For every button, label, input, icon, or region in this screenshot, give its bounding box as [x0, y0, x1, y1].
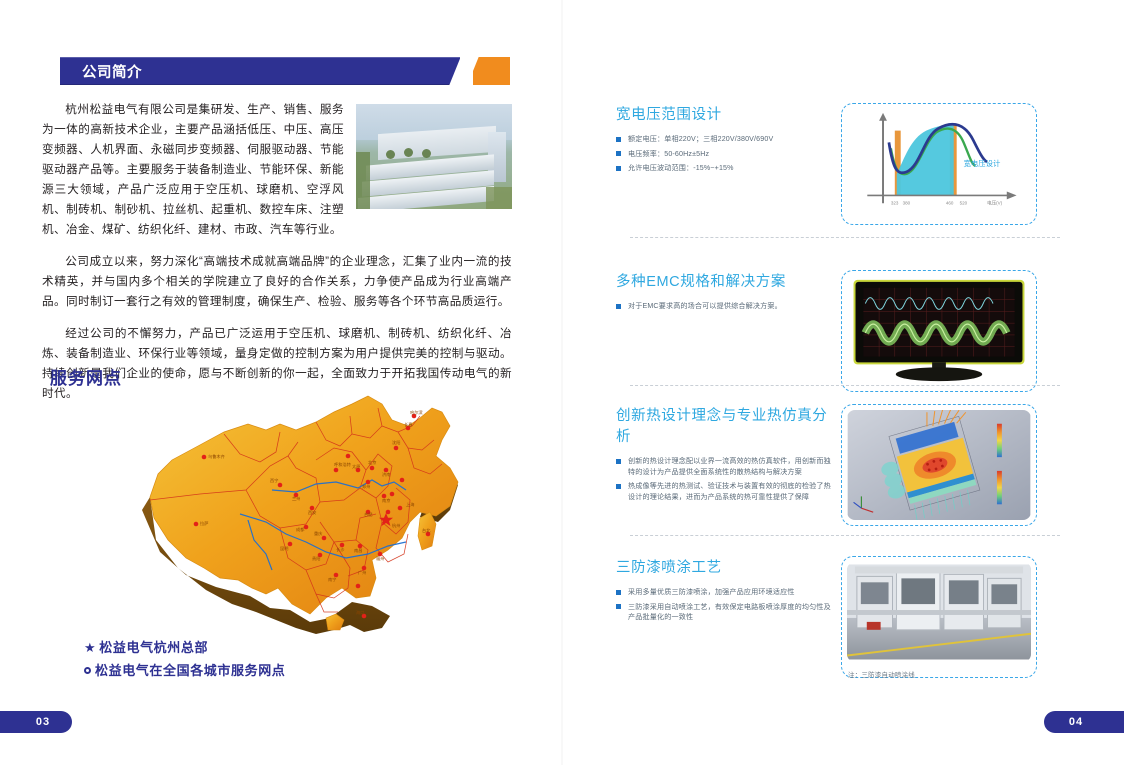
bullet: 额定电压：单相220V；三相220V/380V/690V: [616, 134, 833, 145]
bullet: 允许电压波动范围：-15%~+15%: [616, 163, 833, 174]
thermal-simulation-image: [847, 410, 1031, 520]
thermal-colorbar-2: [997, 471, 1002, 504]
legend-item-branches: 松益电气在全国各城市服务网点: [84, 659, 285, 682]
legend-hq-label: 松益电气杭州总部: [99, 636, 208, 659]
svg-text:太原: 太原: [352, 463, 360, 470]
feature-1-bullets: 额定电压：单相220V；三相220V/380V/690V 电压频率：50-60H…: [616, 134, 833, 174]
page-number-left-text: 03: [22, 716, 50, 728]
legend-item-hq: ★ 松益电气杭州总部: [84, 636, 285, 659]
svg-text:520: 520: [960, 200, 968, 205]
feature-1-text: 宽电压范围设计 额定电压：单相220V；三相220V/380V/690V 电压频…: [616, 103, 841, 225]
thermal-sim-svg: [847, 410, 1031, 520]
coating-line-photo: [847, 562, 1031, 662]
page-number-left: 03: [0, 711, 72, 733]
svg-text:广州: 广州: [358, 569, 366, 576]
bullet: 采用多量优质三防漆喷涂，加强产品应用环境适应性: [616, 587, 833, 598]
intro-paragraph-2: 公司成立以来，努力深化“高端技术成就高端品牌”的企业理念，汇集了业内一流的技术精…: [42, 252, 512, 312]
svg-text:合肥: 合肥: [364, 511, 373, 518]
svg-text:上海: 上海: [406, 501, 415, 508]
svg-text:杭州: 杭州: [392, 522, 400, 529]
factory-photo: [356, 104, 512, 209]
svg-text:323: 323: [891, 200, 899, 205]
feature-2-title: 多种EMC规格和解决方案: [616, 270, 833, 291]
feature-4-text: 三防漆喷涂工艺 采用多量优质三防漆喷涂，加强产品应用环境适应性 三防漆采用自动喷…: [616, 556, 841, 678]
bullet: 电压频率：50-60Hz±5Hz: [616, 149, 833, 160]
photo-greenery-right: [486, 187, 512, 209]
circle-dot-icon: [84, 667, 91, 674]
svg-text:海口: 海口: [356, 609, 364, 616]
feature-1-image-frame: 宽电压设计 323 380 460 520 电压(V): [841, 103, 1037, 225]
feature-divider-1: [630, 237, 1060, 239]
left-page: 公司简介 杭州松益电气有限公司是集研发、生产、销售、服务为一体的高新技术企业，主…: [0, 0, 562, 765]
oscilloscope-svg: [847, 276, 1031, 386]
oscilloscope-image: [847, 276, 1031, 386]
feature-4-caption: 注：三防漆自动喷涂线: [848, 669, 915, 679]
svg-text:福州: 福州: [376, 555, 384, 562]
svg-text:南京: 南京: [382, 497, 390, 504]
svg-text:呼和浩特: 呼和浩特: [334, 461, 351, 468]
svg-text:济南: 济南: [382, 471, 390, 478]
star-icon: ★: [84, 636, 96, 659]
left-header-bar: 公司简介: [60, 57, 460, 85]
feature-block-emc: 多种EMC规格和解决方案 对于EMC要求高的场合可以提供综合解决方案。: [616, 270, 1068, 392]
svg-text:460: 460: [946, 200, 954, 205]
tv-base: [896, 367, 982, 381]
svg-text:长春: 长春: [404, 421, 413, 428]
svg-text:南昌: 南昌: [354, 547, 362, 554]
page-number-right: 04: [1044, 711, 1124, 733]
svg-text:380: 380: [903, 200, 911, 205]
feature-2-text: 多种EMC规格和解决方案 对于EMC要求高的场合可以提供综合解决方案。: [616, 270, 841, 392]
svg-text:北京: 北京: [368, 459, 376, 466]
left-header-title: 公司简介: [82, 61, 142, 82]
wide-voltage-chart-svg: 宽电压设计 323 380 460 520 电压(V): [847, 109, 1031, 219]
feature-block-coating: 三防漆喷涂工艺 采用多量优质三防漆喷涂，加强产品应用环境适应性 三防漆采用自动喷…: [616, 556, 1068, 678]
left-header-orange-block: [473, 57, 510, 85]
feature-divider-3: [630, 535, 1060, 537]
svg-text:乌鲁木齐: 乌鲁木齐: [208, 453, 226, 460]
chart-x-arrow: [1007, 192, 1017, 200]
photo-greenery-left: [356, 152, 370, 209]
svg-text:沈阳: 沈阳: [392, 439, 400, 446]
feature-2-image-frame: [841, 270, 1037, 392]
feature-3-image-frame: [841, 404, 1037, 526]
feature-block-thermal: 创新热设计理念与专业热仿真分析 创新的热设计理念配以业界一流高效的热仿真软件，用…: [616, 404, 1068, 526]
feature-3-bullets: 创新的热设计理念配以业界一流高效的热仿真软件，用创新而独特的设计为产品提供全面系…: [616, 456, 833, 502]
thermal-colorbar-1: [997, 424, 1002, 457]
legend-branch-label: 松益电气在全国各城市服务网点: [95, 659, 285, 682]
chart-y-arrow: [879, 113, 887, 121]
left-section-header: 公司简介: [60, 57, 510, 85]
feature-1-title: 宽电压范围设计: [616, 103, 833, 124]
svg-text:台北: 台北: [422, 527, 431, 534]
photo-tree: [386, 150, 395, 159]
bullet: 三防漆采用自动喷涂工艺，有效保定电路板喷涂厚度的均匀性及产品批量化的一致性: [616, 602, 833, 623]
svg-text:电压(V): 电压(V): [987, 199, 1002, 206]
svg-text:郑州: 郑州: [362, 483, 370, 490]
svg-text:拉萨: 拉萨: [200, 520, 208, 527]
photo-tree: [404, 148, 413, 157]
chart-fill-area: [897, 125, 954, 195]
feature-4-image-frame: 注：三防漆自动喷涂线: [841, 556, 1037, 678]
svg-text:兰州: 兰州: [292, 495, 300, 501]
bullet: 热成像等先进的热测试、验证技术与装置有效的彻底的检验了热设计的理论结果，进而为产…: [616, 481, 833, 502]
wide-voltage-chart-image: 宽电压设计 323 380 460 520 电压(V): [847, 109, 1031, 219]
feature-3-title: 创新热设计理念与专业热仿真分析: [616, 404, 833, 446]
page-number-right-text: 04: [1069, 716, 1099, 728]
svg-text:西宁: 西宁: [270, 477, 278, 484]
svg-text:成都: 成都: [296, 526, 305, 533]
map-legend: ★ 松益电气杭州总部 松益电气在全国各城市服务网点: [84, 636, 285, 682]
svg-text:南宁: 南宁: [328, 576, 336, 582]
feature-block-wide-voltage: 宽电压范围设计 额定电压：单相220V；三相220V/380V/690V 电压频…: [616, 103, 1068, 225]
svg-text:贵阳: 贵阳: [312, 555, 320, 562]
feature-2-bullets: 对于EMC要求高的场合可以提供综合解决方案。: [616, 301, 833, 312]
photo-tree: [422, 149, 431, 158]
bullet: 对于EMC要求高的场合可以提供综合解决方案。: [616, 301, 833, 312]
feature-4-title: 三防漆喷涂工艺: [616, 556, 833, 577]
bullet: 创新的热设计理念配以业界一流高效的热仿真软件，用创新而独特的设计为产品提供全面系…: [616, 456, 833, 477]
svg-text:重庆: 重庆: [314, 530, 323, 537]
chart-annotation-label: 宽电压设计: [964, 159, 1001, 168]
svg-text:长沙: 长沙: [336, 546, 345, 553]
coating-line-svg: [847, 562, 1031, 662]
feature-divider-2: [630, 385, 1060, 387]
service-network-title: 服务网点: [50, 364, 122, 389]
feature-3-text: 创新热设计理念与专业热仿真分析 创新的热设计理念配以业界一流高效的热仿真软件，用…: [616, 404, 841, 526]
feature-4-bullets: 采用多量优质三防漆喷涂，加强产品应用环境适应性 三防漆采用自动喷涂工艺，有效保定…: [616, 587, 833, 623]
svg-text:哈尔滨: 哈尔滨: [410, 409, 423, 416]
red-cart: [867, 622, 881, 630]
svg-text:西安: 西安: [308, 509, 316, 516]
chart-x-ticks: 323 380 460 520 电压(V): [891, 199, 1003, 206]
